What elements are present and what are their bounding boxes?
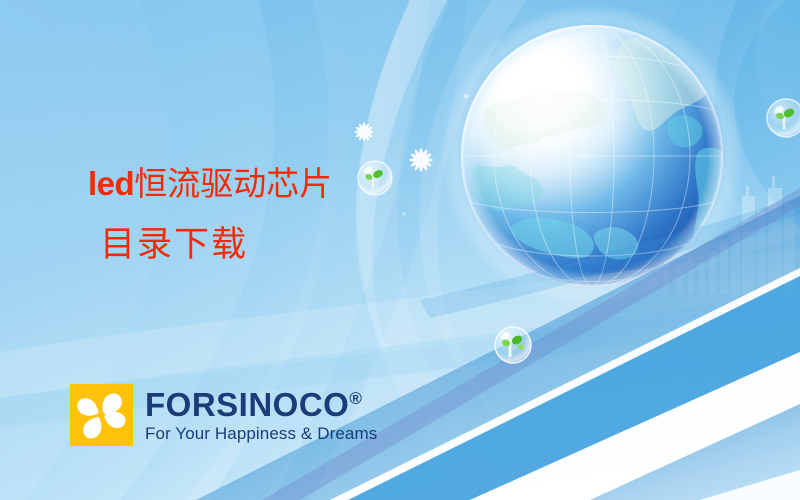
bubble-sprout-bottom bbox=[495, 327, 531, 363]
logo-mark-tile bbox=[70, 384, 133, 446]
pinwheel-flower-icon bbox=[70, 384, 133, 446]
logo-tagline: For Your Happiness & Dreams bbox=[145, 424, 377, 443]
logo-wordmark-block: FORSINOCO® For Your Happiness & Dreams bbox=[145, 384, 377, 443]
bubble-sprout-right bbox=[767, 99, 800, 137]
logo-company-name: FORSINOCO® bbox=[145, 388, 377, 421]
company-logo[interactable]: FORSINOCO® For Your Happiness & Dreams bbox=[70, 384, 377, 446]
sparkle-dot bbox=[402, 212, 406, 216]
logo-name-text: FORSINOCO bbox=[145, 386, 349, 423]
bubble-sprout-mid bbox=[358, 161, 392, 195]
sparkle-dot bbox=[464, 94, 469, 99]
registered-trademark-icon: ® bbox=[349, 389, 362, 408]
promo-banner: led恒流驱动芯片 目录下载 FORSINOCO® For Your Happi… bbox=[0, 0, 800, 500]
